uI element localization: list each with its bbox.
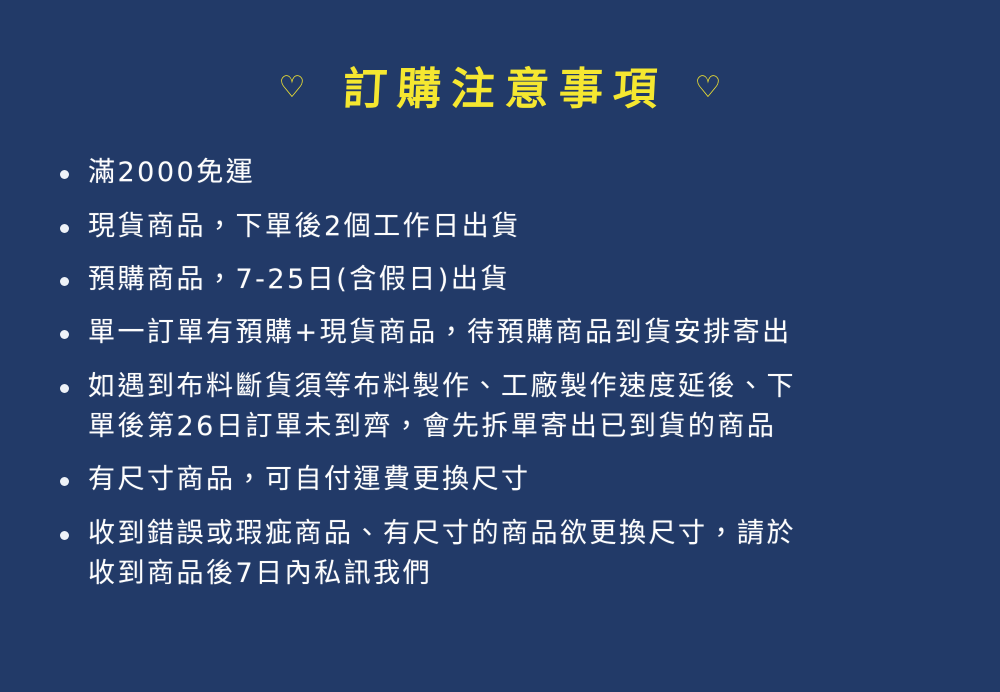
bullet-icon: [60, 224, 69, 233]
list-item: 收到錯誤或瑕疵商品、有尺寸的商品欲更換尺寸，請於 收到商品後7日內私訊我們: [58, 515, 972, 594]
bullet-icon: [60, 477, 69, 486]
page-title-row: ♡ 訂購注意事項 ♡: [0, 66, 1000, 114]
notice-line: 如遇到布料斷貨須等布料製作、工廠製作速度延後、下: [88, 368, 972, 406]
bullet-icon: [60, 170, 69, 179]
notice-line: 收到商品後7日內私訊我們: [88, 555, 972, 593]
order-notice-card: ♡ 訂購注意事項 ♡ 滿2000免運 現貨商品，下單後2個工作日出貨 預購商品，…: [0, 0, 1000, 692]
notice-line: 有尺寸商品，可自付運費更換尺寸: [88, 461, 972, 499]
list-item: 現貨商品，下單後2個工作日出貨: [58, 208, 972, 246]
heart-icon-right: ♡: [693, 73, 723, 103]
notice-list: 滿2000免運 現貨商品，下單後2個工作日出貨 預購商品，7-25日(含假日)出…: [0, 154, 1000, 593]
list-item: 單一訂單有預購+現貨商品，待預購商品到貨安排寄出: [58, 314, 972, 352]
notice-line: 現貨商品，下單後2個工作日出貨: [88, 208, 972, 246]
notice-line: 滿2000免運: [88, 154, 972, 192]
bullet-icon: [60, 531, 69, 540]
bullet-icon: [60, 277, 69, 286]
list-item: 預購商品，7-25日(含假日)出貨: [58, 261, 972, 299]
bullet-icon: [60, 330, 69, 339]
heart-icon-left: ♡: [277, 73, 307, 103]
bullet-icon: [60, 384, 69, 393]
list-item: 有尺寸商品，可自付運費更換尺寸: [58, 461, 972, 499]
notice-line: 預購商品，7-25日(含假日)出貨: [88, 261, 972, 299]
notice-line: 收到錯誤或瑕疵商品、有尺寸的商品欲更換尺寸，請於: [88, 515, 972, 553]
list-item: 滿2000免運: [58, 154, 972, 192]
notice-line: 單後第26日訂單未到齊，會先拆單寄出已到貨的商品: [88, 408, 972, 446]
notice-line: 單一訂單有預購+現貨商品，待預購商品到貨安排寄出: [88, 314, 972, 352]
list-item: 如遇到布料斷貨須等布料製作、工廠製作速度延後、下 單後第26日訂單未到齊，會先拆…: [58, 368, 972, 447]
page-title: 訂購注意事項: [332, 66, 669, 114]
